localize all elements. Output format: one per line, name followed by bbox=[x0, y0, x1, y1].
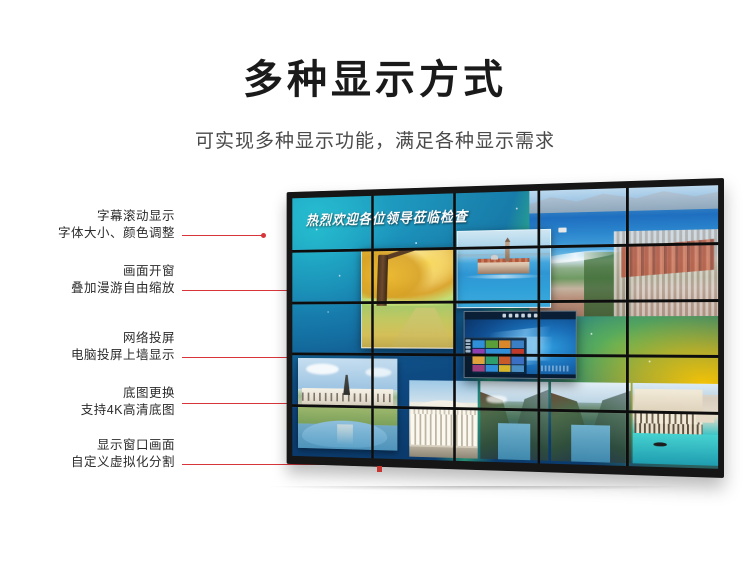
callout-background-change: 底图更换 支持4K高清底图 bbox=[30, 385, 175, 419]
callout-line2: 自定义虚拟化分割 bbox=[30, 454, 175, 471]
video-wall-screen[interactable]: 热烈欢迎各位领导莅临检查 bbox=[292, 185, 718, 469]
callout-line1: 画面开窗 bbox=[30, 263, 175, 280]
callout-line2: 叠加漫游自由缩放 bbox=[30, 280, 175, 297]
callout-line1: 底图更换 bbox=[30, 385, 175, 402]
callout-line2: 电脑投屏上墙显示 bbox=[30, 347, 175, 364]
callout-line1: 字幕滚动显示 bbox=[30, 208, 175, 225]
callout-line2: 字体大小、颜色调整 bbox=[30, 225, 175, 242]
video-wall[interactable]: 热烈欢迎各位领导莅临检查 bbox=[232, 178, 732, 488]
callout-subtitle-scroll: 字幕滚动显示 字体大小、颜色调整 bbox=[30, 208, 175, 242]
stand-indicator bbox=[377, 466, 382, 472]
video-wall-grid bbox=[292, 185, 718, 469]
page-root: 多种显示方式 可实现多种显示功能，满足各种显示需求 字幕滚动显示 字体大小、颜色… bbox=[0, 0, 750, 571]
page-subtitle: 可实现多种显示功能，满足各种显示需求 bbox=[0, 126, 750, 153]
callout-line2: 支持4K高清底图 bbox=[30, 402, 175, 419]
callout-picture-window: 画面开窗 叠加漫游自由缩放 bbox=[30, 263, 175, 297]
callout-window-split: 显示窗口画面 自定义虚拟化分割 bbox=[30, 437, 175, 471]
callout-network-casting: 网络投屏 电脑投屏上墙显示 bbox=[30, 330, 175, 364]
video-wall-shadow bbox=[242, 486, 712, 492]
callout-line1: 网络投屏 bbox=[30, 330, 175, 347]
callout-line1: 显示窗口画面 bbox=[30, 437, 175, 454]
video-wall-bezel: 热烈欢迎各位领导莅临检查 bbox=[287, 178, 724, 478]
page-title: 多种显示方式 bbox=[0, 58, 750, 102]
